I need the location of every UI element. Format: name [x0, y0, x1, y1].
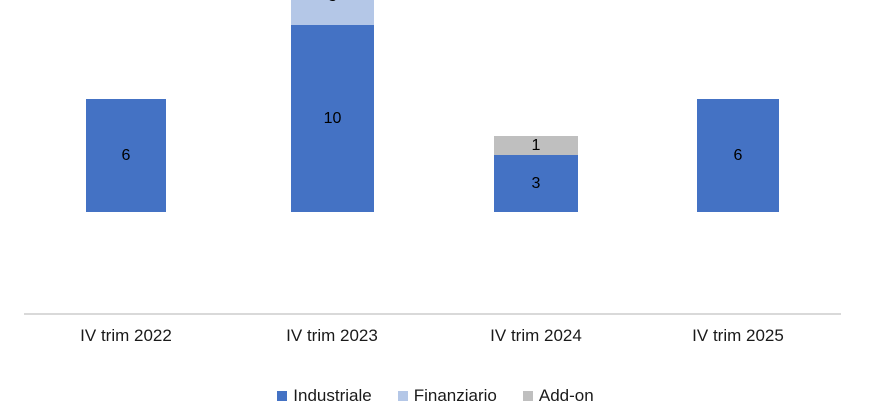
legend-item-add-on[interactable]: Add-on [523, 386, 594, 406]
legend-item-finanziario[interactable]: Finanziario [398, 386, 497, 406]
legend-label-add-on: Add-on [539, 386, 594, 406]
bar-segment-industriale[interactable]: 3 [494, 155, 578, 212]
legend-swatch-add-on [523, 391, 533, 401]
bar-segment-add-on[interactable]: 1 [494, 136, 578, 155]
category-label-iv-trim-2023: IV trim 2023 [232, 325, 432, 347]
bar-data-label: 3 [328, 0, 337, 5]
category-label-iv-trim-2022: IV trim 2022 [26, 325, 226, 347]
bar-data-label: 3 [532, 176, 541, 192]
stacked-bar-chart: 6 3 10 1 3 6 IV [0, 0, 871, 420]
bar-column-iv-trim-2023[interactable]: 3 10 [291, 0, 374, 212]
legend-label-industriale: Industriale [293, 386, 371, 406]
bar-segment-finanziario[interactable]: 3 [291, 0, 374, 25]
bar-column-iv-trim-2024[interactable]: 1 3 [494, 136, 578, 212]
bar-column-iv-trim-2022[interactable]: 6 [86, 99, 166, 212]
legend-label-finanziario: Finanziario [414, 386, 497, 406]
category-axis-labels: IV trim 2022 IV trim 2023 IV trim 2024 I… [0, 325, 871, 351]
chart-legend: Industriale Finanziario Add-on [0, 386, 871, 406]
category-axis-line [24, 313, 841, 315]
bar-segment-industriale[interactable]: 6 [86, 99, 166, 212]
bar-data-label: 10 [324, 111, 342, 127]
legend-swatch-industriale [277, 391, 287, 401]
legend-swatch-finanziario [398, 391, 408, 401]
bar-segment-industriale[interactable]: 6 [697, 99, 779, 212]
legend-item-industriale[interactable]: Industriale [277, 386, 371, 406]
plot-area: 6 3 10 1 3 6 [0, 0, 871, 318]
bar-data-label: 6 [734, 148, 743, 164]
bar-column-iv-trim-2025[interactable]: 6 [697, 99, 779, 212]
category-label-iv-trim-2025: IV trim 2025 [638, 325, 838, 347]
bar-data-label: 6 [122, 148, 131, 164]
bar-segment-industriale[interactable]: 10 [291, 25, 374, 212]
category-label-iv-trim-2024: IV trim 2024 [436, 325, 636, 347]
bar-data-label: 1 [532, 138, 541, 154]
